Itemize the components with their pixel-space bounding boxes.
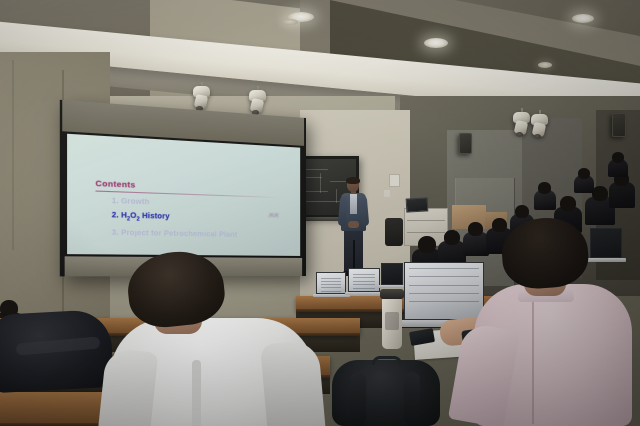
backpack-strap — [404, 372, 420, 426]
shoulder-right — [260, 340, 326, 426]
laptop-2-screen-line — [353, 288, 375, 289]
lecture-hall-photo: Contents 1. Growth 2. H2O2 History 3. Pr… — [0, 0, 640, 426]
laptop-2-base — [345, 292, 384, 295]
student-white-shirt — [96, 252, 326, 426]
laptop-4-screen-line — [409, 268, 479, 269]
shirt-seam — [532, 302, 534, 424]
shirt-fold — [192, 360, 201, 426]
laptop-2-screen-line — [353, 284, 375, 285]
shoulder-left — [98, 348, 159, 426]
backpack-handle — [372, 356, 402, 365]
laptop-4-screen-line — [409, 276, 479, 277]
laptop-4-screen-line — [409, 285, 479, 286]
laptop-4-screen-line — [409, 293, 479, 294]
tumbler-label — [385, 312, 399, 330]
laptop-2-screen — [348, 268, 380, 292]
laptop-2-screen-line — [353, 274, 375, 275]
laptop-3-base — [378, 285, 407, 288]
backpack-strap — [350, 372, 366, 426]
backpack — [332, 360, 440, 426]
student-hair — [500, 215, 591, 291]
laptop-4-screen-line — [409, 301, 479, 302]
laptop-2-screen-line — [353, 277, 375, 278]
student-pink-shirt — [470, 218, 640, 426]
laptop-3-screen — [381, 263, 403, 285]
laptop-2-screen-line — [353, 281, 375, 282]
tumbler-lid — [380, 289, 404, 299]
